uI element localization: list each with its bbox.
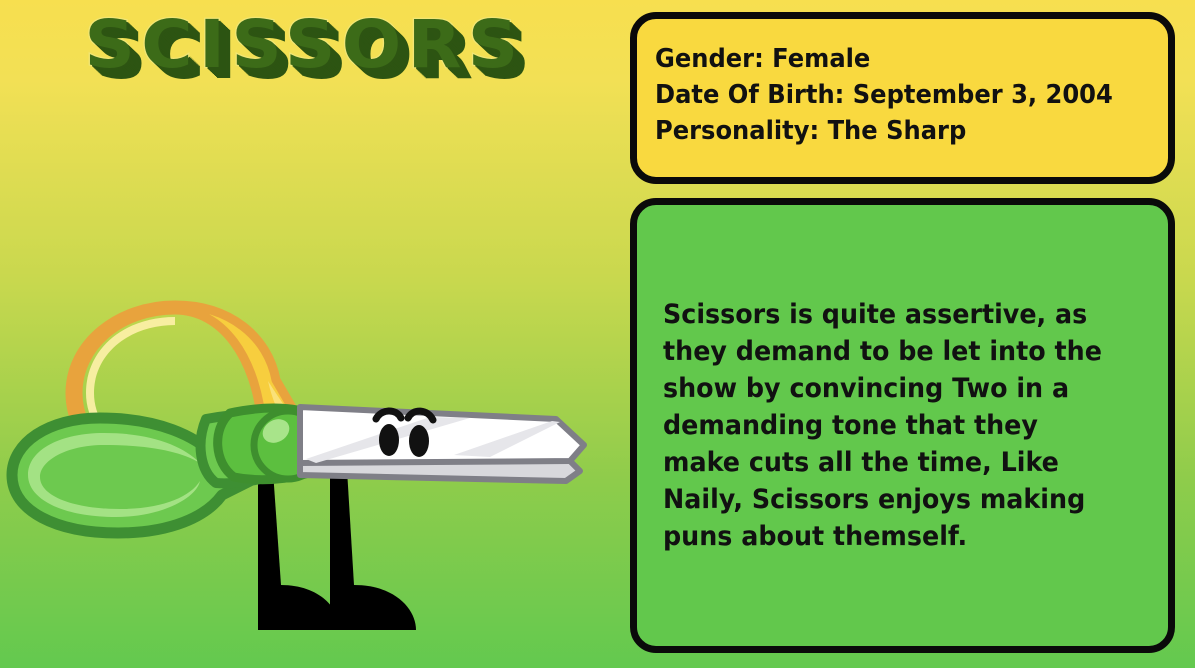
title-container: SCISSORS [0,6,610,83]
upper-blade [300,407,584,463]
scissors-character-illustration [0,285,620,645]
page-title: SCISSORS [85,6,525,83]
info-line-personality: Personality: The Sharp [655,113,1132,149]
info-line-dob: Date Of Birth: September 3, 2004 [655,77,1132,113]
character-card: SCISSORS [0,0,1195,668]
description-text: Scissors is quite assertive, as they dem… [663,296,1113,555]
right-eye [409,425,429,457]
description-box: Scissors is quite assertive, as they dem… [630,198,1175,653]
info-box: Gender: Female Date Of Birth: September … [630,12,1175,184]
left-eye [379,424,399,456]
info-line-gender: Gender: Female [655,41,1132,77]
